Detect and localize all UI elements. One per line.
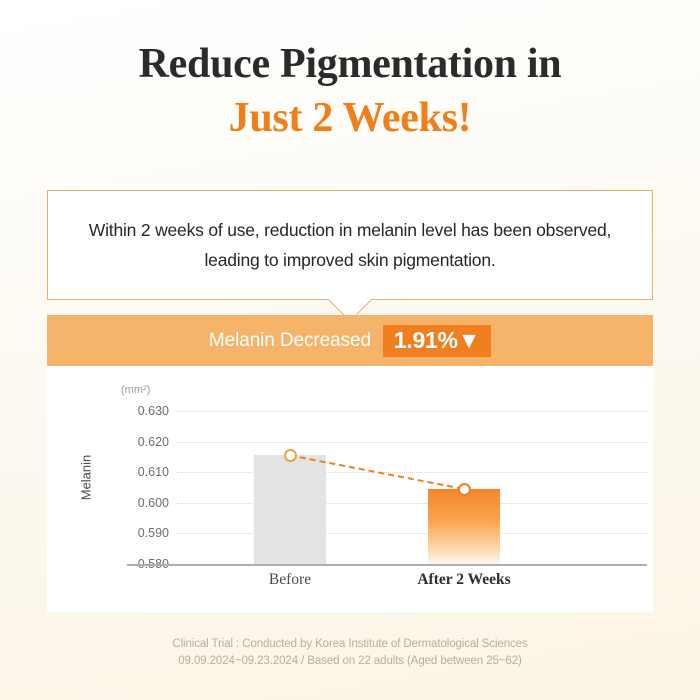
gridline (177, 503, 647, 505)
melanin-decreased-banner: Melanin Decreased 1.91%▼ (47, 315, 653, 366)
y-axis-tick: 0.610 (113, 465, 169, 479)
data-point-marker-before (284, 449, 297, 462)
gridline (177, 533, 647, 535)
y-axis-tick: 0.620 (113, 435, 169, 449)
y-axis-tick: 0.590 (113, 526, 169, 540)
page-title: Reduce Pigmentation in Just 2 Weeks! (0, 38, 700, 144)
banner-label: Melanin Decreased (209, 330, 371, 352)
bar-after-2-weeks (428, 489, 500, 564)
x-axis-label-after: After 2 Weeks (384, 571, 544, 589)
description-text: Within 2 weeks of use, reduction in mela… (48, 215, 652, 275)
banner-value-badge: 1.91%▼ (383, 325, 491, 357)
y-axis-unit-label: (mm²) (121, 384, 150, 396)
y-axis-tick: 0.630 (113, 404, 169, 418)
chart-card: Melanin (mm²) 0.6300.6200.6100.6000.5900… (47, 366, 653, 612)
title-line-1: Reduce Pigmentation in (0, 38, 700, 90)
footnote-line-2: 09.09.2024~09.23.2024 / Based on 22 adul… (0, 653, 700, 670)
gridline (177, 411, 647, 413)
chart-baseline (127, 564, 647, 566)
data-point-marker-after (458, 483, 471, 496)
gridline (177, 472, 647, 474)
description-callout: Within 2 weeks of use, reduction in mela… (47, 190, 653, 300)
footnote-line-1: Clinical Trial : Conducted by Korea Inst… (0, 636, 700, 653)
clinical-trial-footnote: Clinical Trial : Conducted by Korea Inst… (0, 636, 700, 670)
bar-before (254, 455, 326, 564)
y-axis-title: Melanin (79, 433, 94, 523)
melanin-bar-chart: Melanin (mm²) 0.6300.6200.6100.6000.5900… (47, 366, 653, 612)
title-line-2: Just 2 Weeks! (0, 92, 700, 144)
x-axis-label-before: Before (210, 571, 370, 589)
y-axis-tick: 0.600 (113, 496, 169, 510)
gridline (177, 442, 647, 444)
